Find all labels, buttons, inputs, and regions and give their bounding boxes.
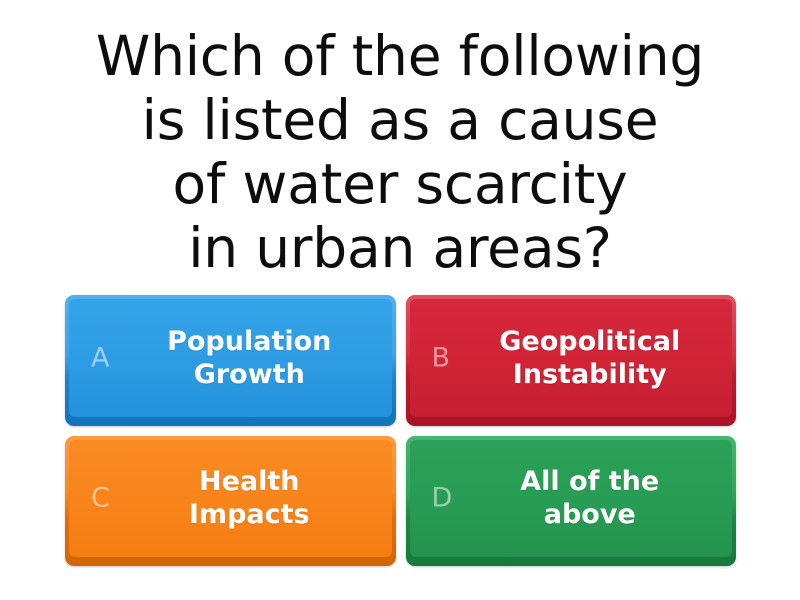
question-area: Which of the following is listed as a ca… [0, 0, 800, 295]
answer-letter-a: A [91, 344, 109, 371]
answer-letter-d: D [432, 485, 453, 512]
answer-letter-c: C [91, 485, 110, 512]
quiz-container: Which of the following is listed as a ca… [0, 0, 800, 600]
answer-option-b-inner: B Geopolitical Instability [410, 299, 733, 417]
answer-option-c[interactable]: C Health Impacts [65, 436, 396, 567]
answer-label-b: Geopolitical Instability [410, 325, 733, 391]
answer-options-grid: A Population Growth B Geopolitical Insta… [0, 295, 800, 600]
answer-option-a-inner: A Population Growth [69, 299, 392, 417]
answer-option-d[interactable]: D All of the above [406, 436, 737, 567]
answer-option-c-inner: C Health Impacts [69, 440, 392, 558]
answer-letter-b: B [432, 344, 451, 371]
answer-option-a[interactable]: A Population Growth [65, 295, 396, 426]
answer-option-d-inner: D All of the above [410, 440, 733, 558]
answer-label-a: Population Growth [69, 325, 392, 391]
question-text: Which of the following is listed as a ca… [96, 24, 704, 280]
answer-option-b[interactable]: B Geopolitical Instability [406, 295, 737, 426]
answer-label-c: Health Impacts [69, 465, 392, 531]
answer-label-d: All of the above [410, 465, 733, 531]
